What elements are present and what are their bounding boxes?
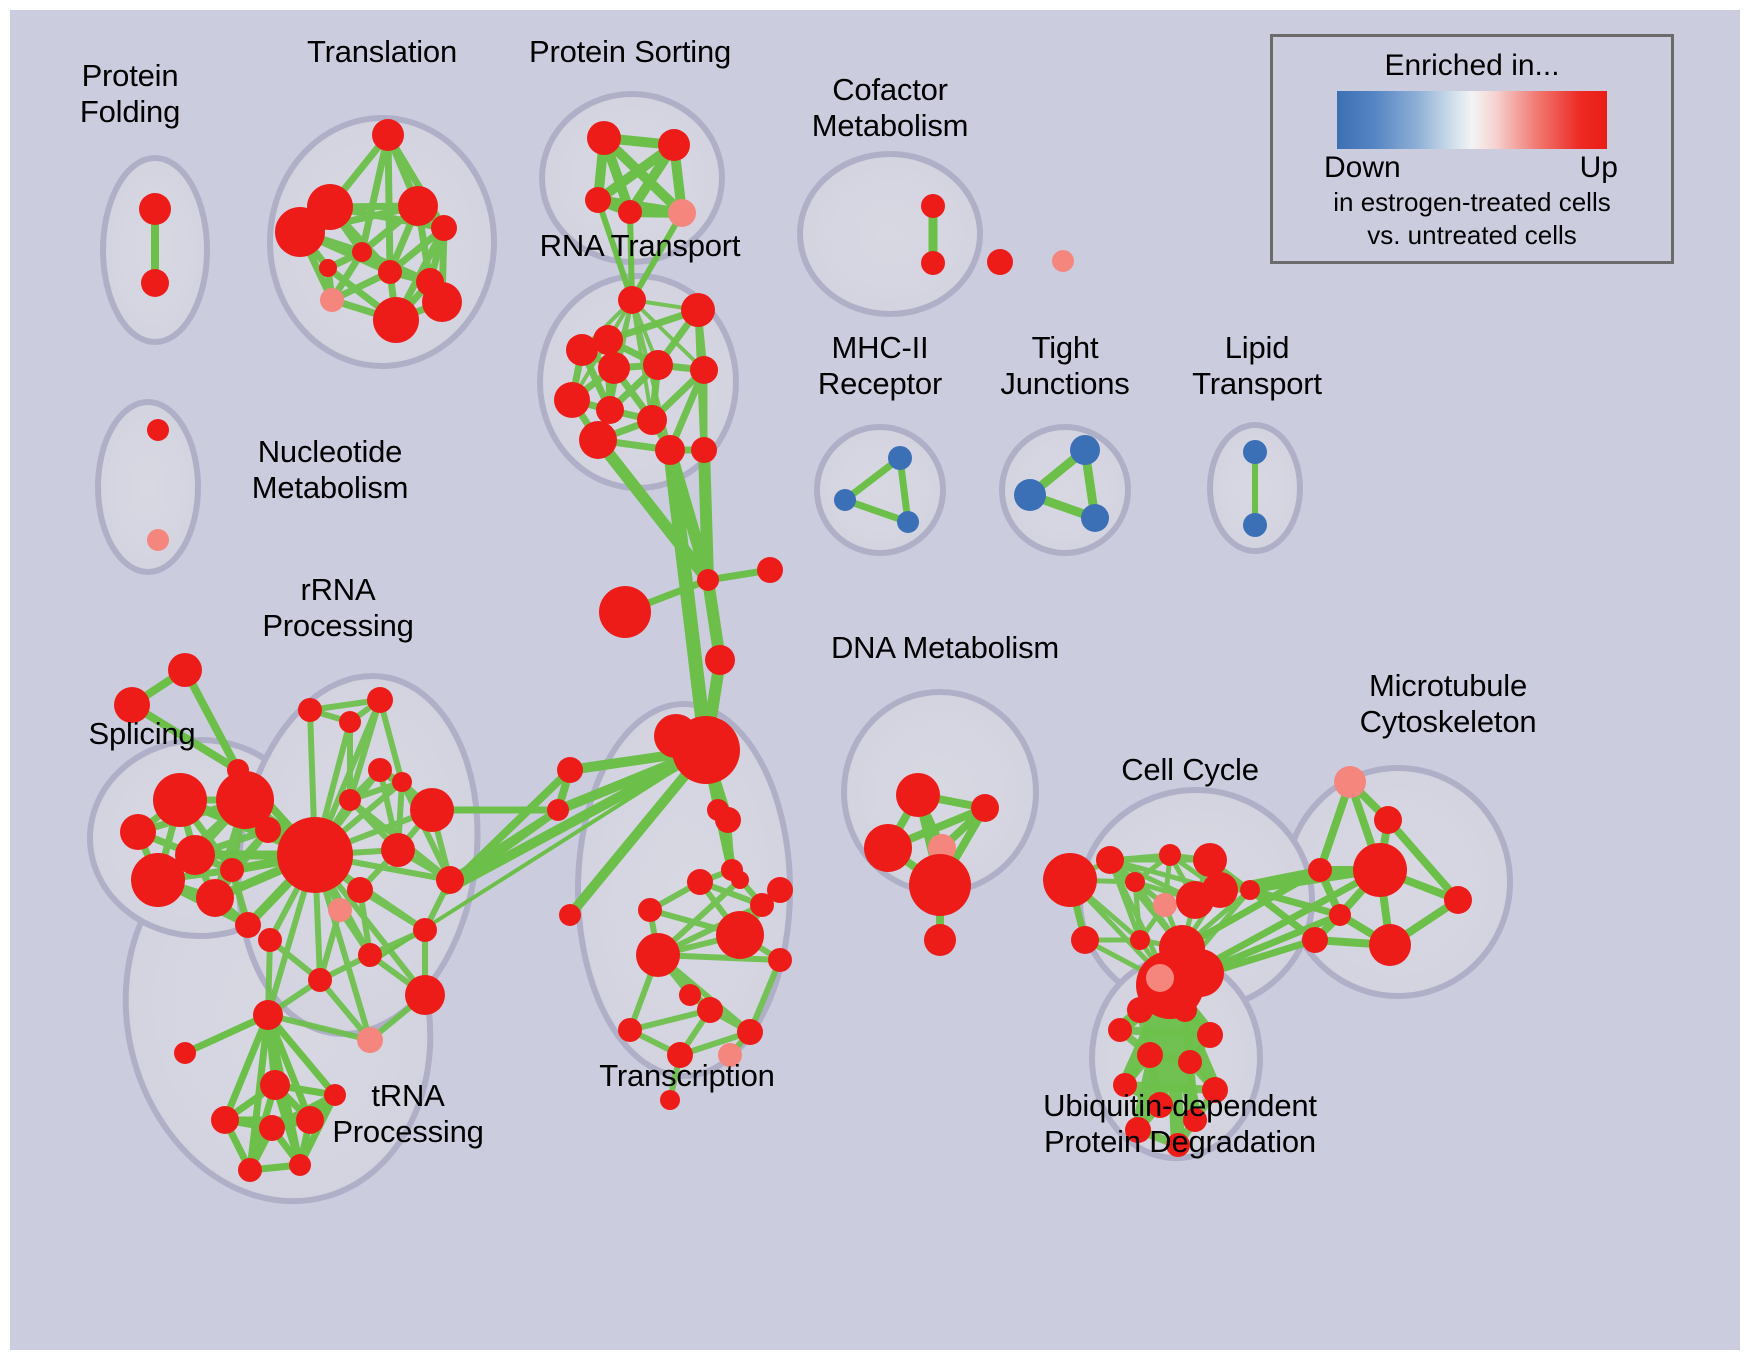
label-tight-junctions: Tight Junctions	[960, 330, 1170, 402]
legend-title: Enriched in...	[1273, 49, 1671, 83]
label-cell-cycle: Cell Cycle	[1090, 752, 1290, 788]
legend-color-gradient-bar	[1337, 91, 1607, 149]
label-rrna-processing: rRNA Processing	[228, 572, 448, 644]
hull-cofactor	[800, 154, 980, 314]
legend-low-label: Down	[1324, 151, 1401, 185]
network-canvas: Protein Folding Translation Protein Sort…	[10, 10, 1740, 1350]
legend-endpoint-labels: Down Up	[1322, 151, 1622, 185]
label-ubiquitin-degradation: Ubiquitin-dependent Protein Degradation	[970, 1088, 1390, 1160]
label-translation: Translation	[272, 34, 492, 70]
label-microtubule-cytoskeleton: Microtubule Cytoskeleton	[1298, 668, 1598, 740]
label-dna-metabolism: DNA Metabolism	[800, 630, 1090, 666]
legend-caption-line2: vs. untreated cells	[1273, 220, 1671, 251]
label-rna-transport: RNA Transport	[500, 228, 780, 264]
label-splicing: Splicing	[52, 716, 232, 752]
label-trna-processing: tRNA Processing	[298, 1078, 518, 1150]
legend-panel: Enriched in... Down Up in estrogen-treat…	[1270, 34, 1674, 264]
label-cofactor-metabolism: Cofactor Metabolism	[770, 72, 1010, 144]
figure-root: Protein Folding Translation Protein Sort…	[0, 0, 1750, 1360]
hull-mhc2	[817, 427, 943, 553]
label-protein-sorting: Protein Sorting	[480, 34, 780, 70]
legend-high-label: Up	[1580, 151, 1618, 185]
label-lipid-transport: Lipid Transport	[1152, 330, 1362, 402]
label-mhc-ii-receptor: MHC-II Receptor	[770, 330, 990, 402]
label-transcription: Transcription	[562, 1058, 812, 1094]
legend-caption-line1: in estrogen-treated cells	[1273, 187, 1671, 218]
label-nucleotide-metabolism: Nucleotide Metabolism	[200, 434, 460, 506]
label-protein-folding: Protein Folding	[30, 58, 230, 130]
